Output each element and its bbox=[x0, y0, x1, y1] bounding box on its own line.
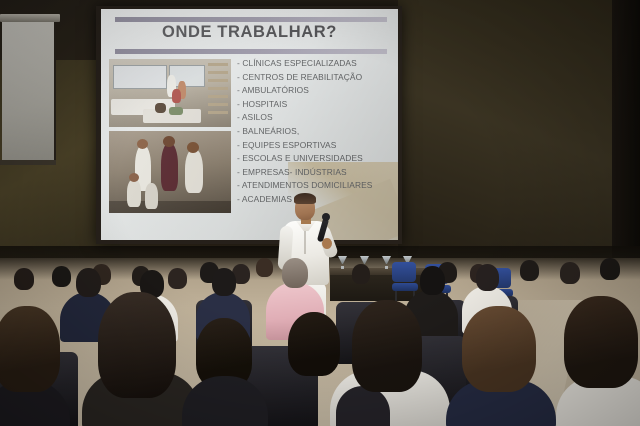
audience-head bbox=[0, 306, 60, 392]
bullet-item: - ATENDIMENTOS DOMICILIARES bbox=[237, 179, 395, 193]
audience-head bbox=[168, 268, 187, 289]
audience-head bbox=[14, 268, 34, 290]
audience-head bbox=[520, 260, 539, 281]
presenter-hair bbox=[294, 193, 316, 204]
bullet-item: - BALNEÁRIOS, bbox=[237, 125, 395, 139]
bullet-item: - CLÍNICAS ESPECIALIZADAS bbox=[237, 57, 395, 71]
photo-therapist-head bbox=[187, 142, 199, 153]
slide-photo-therapy bbox=[109, 131, 231, 213]
secondary-screen-weight-bar bbox=[0, 160, 56, 165]
photo-equipment bbox=[169, 107, 183, 115]
audience-head bbox=[76, 268, 101, 297]
slide-accent-bar-top bbox=[115, 17, 387, 22]
audience-head-long-hair bbox=[98, 292, 176, 398]
photo-seated-person bbox=[145, 183, 158, 209]
secondary-screen-case bbox=[0, 14, 60, 22]
photo-seated-head bbox=[129, 173, 139, 182]
wall-bars-icon bbox=[208, 63, 228, 119]
audience-head-bob bbox=[462, 306, 536, 392]
slide-bullet-list: - CLÍNICAS ESPECIALIZADAS - CENTROS DE R… bbox=[237, 57, 395, 207]
trophy bbox=[338, 256, 347, 269]
photo-patient bbox=[161, 143, 178, 191]
audience-head bbox=[600, 258, 620, 280]
bullet-item: - AMBULATÓRIOS bbox=[237, 84, 395, 98]
photo-therapist bbox=[185, 149, 203, 193]
slide-photo-clinic bbox=[109, 59, 231, 127]
audience-head bbox=[52, 266, 71, 287]
slide-title: ONDE TRABALHAR? bbox=[101, 23, 398, 42]
audience-head bbox=[256, 258, 273, 277]
photo-equipment bbox=[155, 103, 166, 113]
bullet-item: - ACADEMIAS bbox=[237, 193, 395, 207]
audience-head bbox=[560, 262, 580, 284]
audience-head bbox=[476, 264, 499, 291]
microphone-capsule-icon bbox=[322, 213, 330, 221]
bullet-item: - EMPRESAS- INDÚSTRIAS bbox=[237, 166, 395, 180]
lecture-hall-photo: ONDE TRABALHAR? bbox=[0, 0, 640, 426]
audience-head bbox=[282, 258, 308, 288]
presenter-hand bbox=[322, 238, 332, 249]
photo-wall-panel bbox=[113, 65, 167, 89]
photo-person bbox=[172, 89, 181, 103]
slide-accent-bar-bottom bbox=[115, 49, 387, 54]
photo-seated-person bbox=[127, 179, 141, 207]
audience-head bbox=[352, 264, 370, 284]
audience-head bbox=[212, 268, 236, 296]
photo-patient-head bbox=[163, 136, 175, 147]
bullet-item: - EQUIPES ESPORTIVAS bbox=[237, 139, 395, 153]
audience-head bbox=[288, 312, 340, 376]
secondary-projection-screen bbox=[2, 22, 56, 162]
audience-head bbox=[420, 266, 445, 295]
trophy bbox=[382, 256, 391, 269]
presentation-slide: ONDE TRABALHAR? bbox=[101, 9, 398, 240]
presenter-shirt-placket bbox=[304, 228, 306, 254]
photo-therapist-head bbox=[137, 139, 148, 149]
bullet-item: - ESCOLAS E UNIVERSIDADES bbox=[237, 152, 395, 166]
audience-head-curly bbox=[564, 296, 638, 388]
audience-head bbox=[352, 300, 422, 392]
bullet-item: - HOSPITAIS bbox=[237, 98, 395, 112]
bullet-item: - ASILOS bbox=[237, 111, 395, 125]
bullet-item: - CENTROS DE REABILITAÇÃO bbox=[237, 71, 395, 85]
